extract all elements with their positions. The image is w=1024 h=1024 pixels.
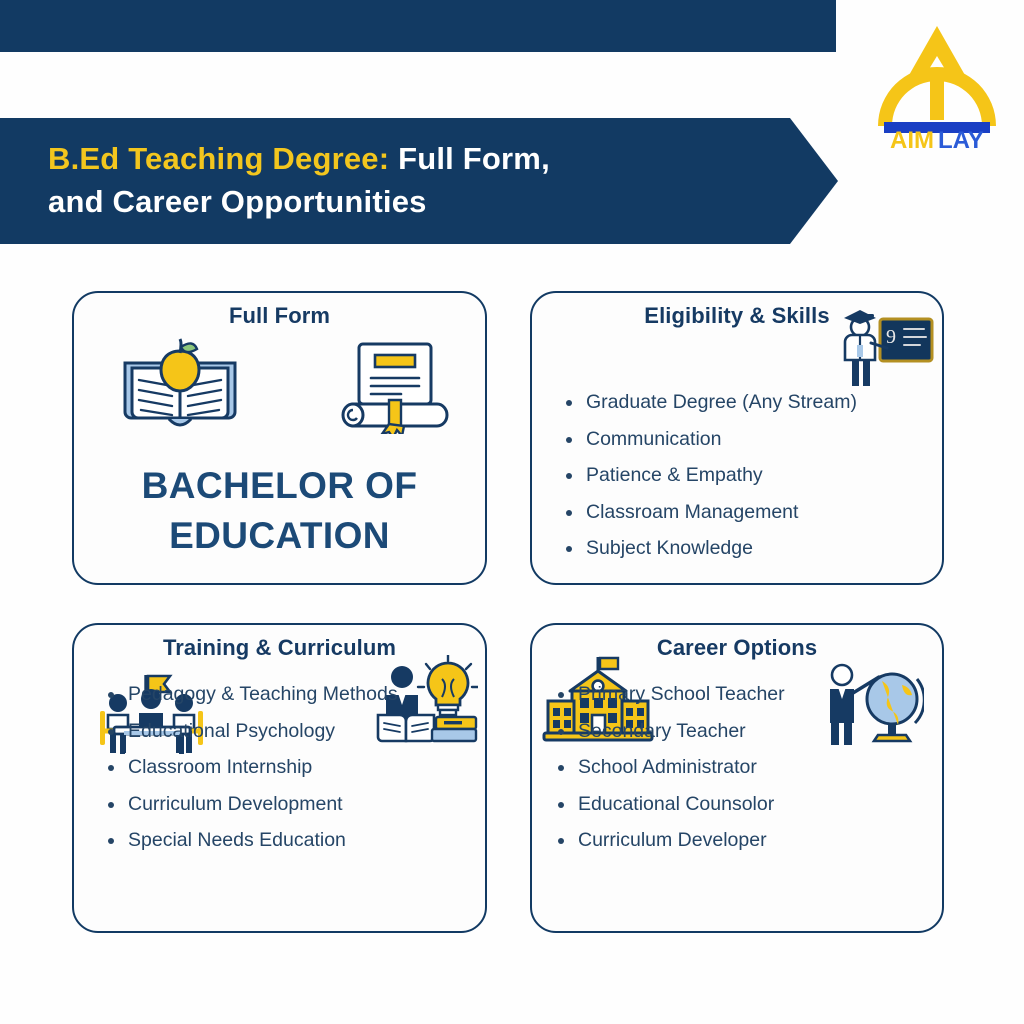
list-item: Subject Knowledge (560, 539, 942, 559)
list-item: Special Needs Education (102, 831, 485, 851)
title-banner: B.Ed Teaching Degree: Full Form, and Car… (0, 118, 838, 244)
aimlay-logo: AIM LAY (866, 22, 1008, 148)
full-form-value: BACHELOR OF EDUCATION (74, 461, 485, 560)
svg-text:9: 9 (886, 326, 896, 348)
list-item: Curriculum Developer (552, 831, 942, 851)
eligibility-list: Graduate Degree (Any Stream) Communicati… (560, 393, 942, 559)
title-highlight: B.Ed Teaching Degree: (48, 141, 389, 176)
list-item: Educational Counsolor (552, 795, 942, 815)
list-item: Classroom Internship (102, 758, 485, 778)
list-item: Patience & Empathy (560, 466, 942, 486)
card-full-form: Full Form (72, 291, 487, 585)
card-career-options: Career Options (530, 623, 944, 933)
list-item: School Administrator (552, 758, 942, 778)
card-eligibility-skills: Eligibility & Skills 9 (530, 291, 944, 585)
top-navy-bar (0, 0, 836, 52)
page-title: B.Ed Teaching Degree: Full Form, and Car… (48, 138, 718, 224)
card-title: Eligibility & Skills (532, 293, 942, 329)
logo-text-lay: LAY (938, 127, 984, 148)
card-grid: Full Form (72, 291, 944, 933)
list-item: Educational Psychology (102, 722, 485, 742)
card-title: Training & Curriculum (74, 625, 485, 661)
infographic-page: AIM LAY B.Ed Teaching Degree: Full Form,… (0, 0, 1024, 1024)
title-rest: Full Form, (389, 141, 550, 176)
career-list: Primary School Teacher Secondary Teacher… (552, 685, 942, 851)
list-item: Curriculum Development (102, 795, 485, 815)
training-list: Pedagogy & Teaching Methods Educational … (102, 685, 485, 851)
book-apple-icon (119, 333, 241, 433)
list-item: Communication (560, 430, 942, 450)
list-item: Classroam Management (560, 503, 942, 523)
diploma-certificate-icon (337, 338, 449, 434)
card-title: Full Form (74, 293, 485, 329)
title-line2: and Career Opportunities (48, 184, 427, 219)
list-item: Graduate Degree (Any Stream) (560, 393, 942, 413)
card-title: Career Options (532, 625, 942, 661)
list-item: Secondary Teacher (552, 722, 942, 742)
full-form-line2: EDUCATION (169, 515, 390, 556)
list-item: Primary School Teacher (552, 685, 942, 705)
list-item: Pedagogy & Teaching Methods (102, 685, 485, 705)
card-training-curriculum: Training & Curriculum (72, 623, 487, 933)
logo-text-aim: AIM (890, 127, 934, 148)
full-form-line1: BACHELOR OF (142, 465, 418, 506)
